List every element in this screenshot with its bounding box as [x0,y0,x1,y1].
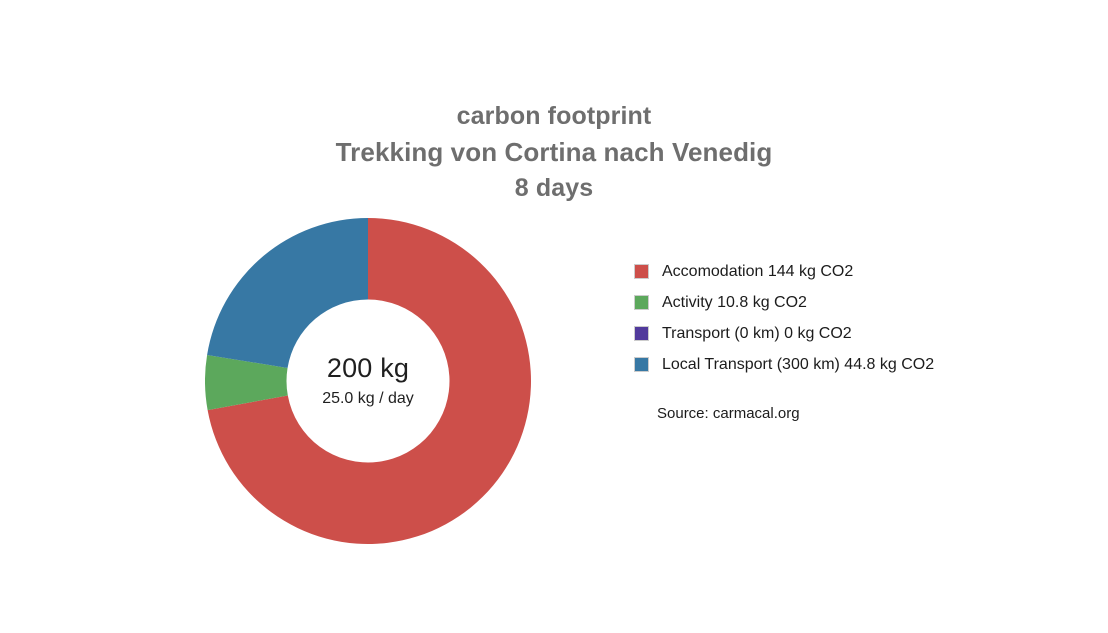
source-note: Source: carmacal.org [657,404,800,424]
legend-swatch-icon [634,295,649,310]
donut-slice[interactable] [207,218,368,368]
legend-item[interactable]: Transport (0 km) 0 kg CO2 [634,318,1054,349]
legend-item-label: Activity 10.8 kg CO2 [662,293,807,312]
legend-item-label: Accomodation 144 kg CO2 [662,262,853,281]
donut-slice-group [205,218,531,544]
chart-title-line-1: carbon footprint [0,98,1108,134]
chart-title-line-2: Trekking von Cortina nach Venedig [0,134,1108,170]
chart-title-line-3: 8 days [0,170,1108,206]
chart-legend: Accomodation 144 kg CO2Activity 10.8 kg … [634,256,1054,380]
legend-item[interactable]: Activity 10.8 kg CO2 [634,287,1054,318]
legend-swatch-icon [634,357,649,372]
donut-chart: 200 kg 25.0 kg / day [205,218,531,544]
legend-item[interactable]: Local Transport (300 km) 44.8 kg CO2 [634,349,1054,380]
donut-chart-svg [205,218,531,544]
legend-swatch-icon [634,326,649,341]
chart-title: carbon footprint Trekking von Cortina na… [0,98,1108,206]
legend-swatch-icon [634,264,649,279]
legend-item-label: Local Transport (300 km) 44.8 kg CO2 [662,355,934,374]
legend-item-label: Transport (0 km) 0 kg CO2 [662,324,852,343]
legend-item[interactable]: Accomodation 144 kg CO2 [634,256,1054,287]
